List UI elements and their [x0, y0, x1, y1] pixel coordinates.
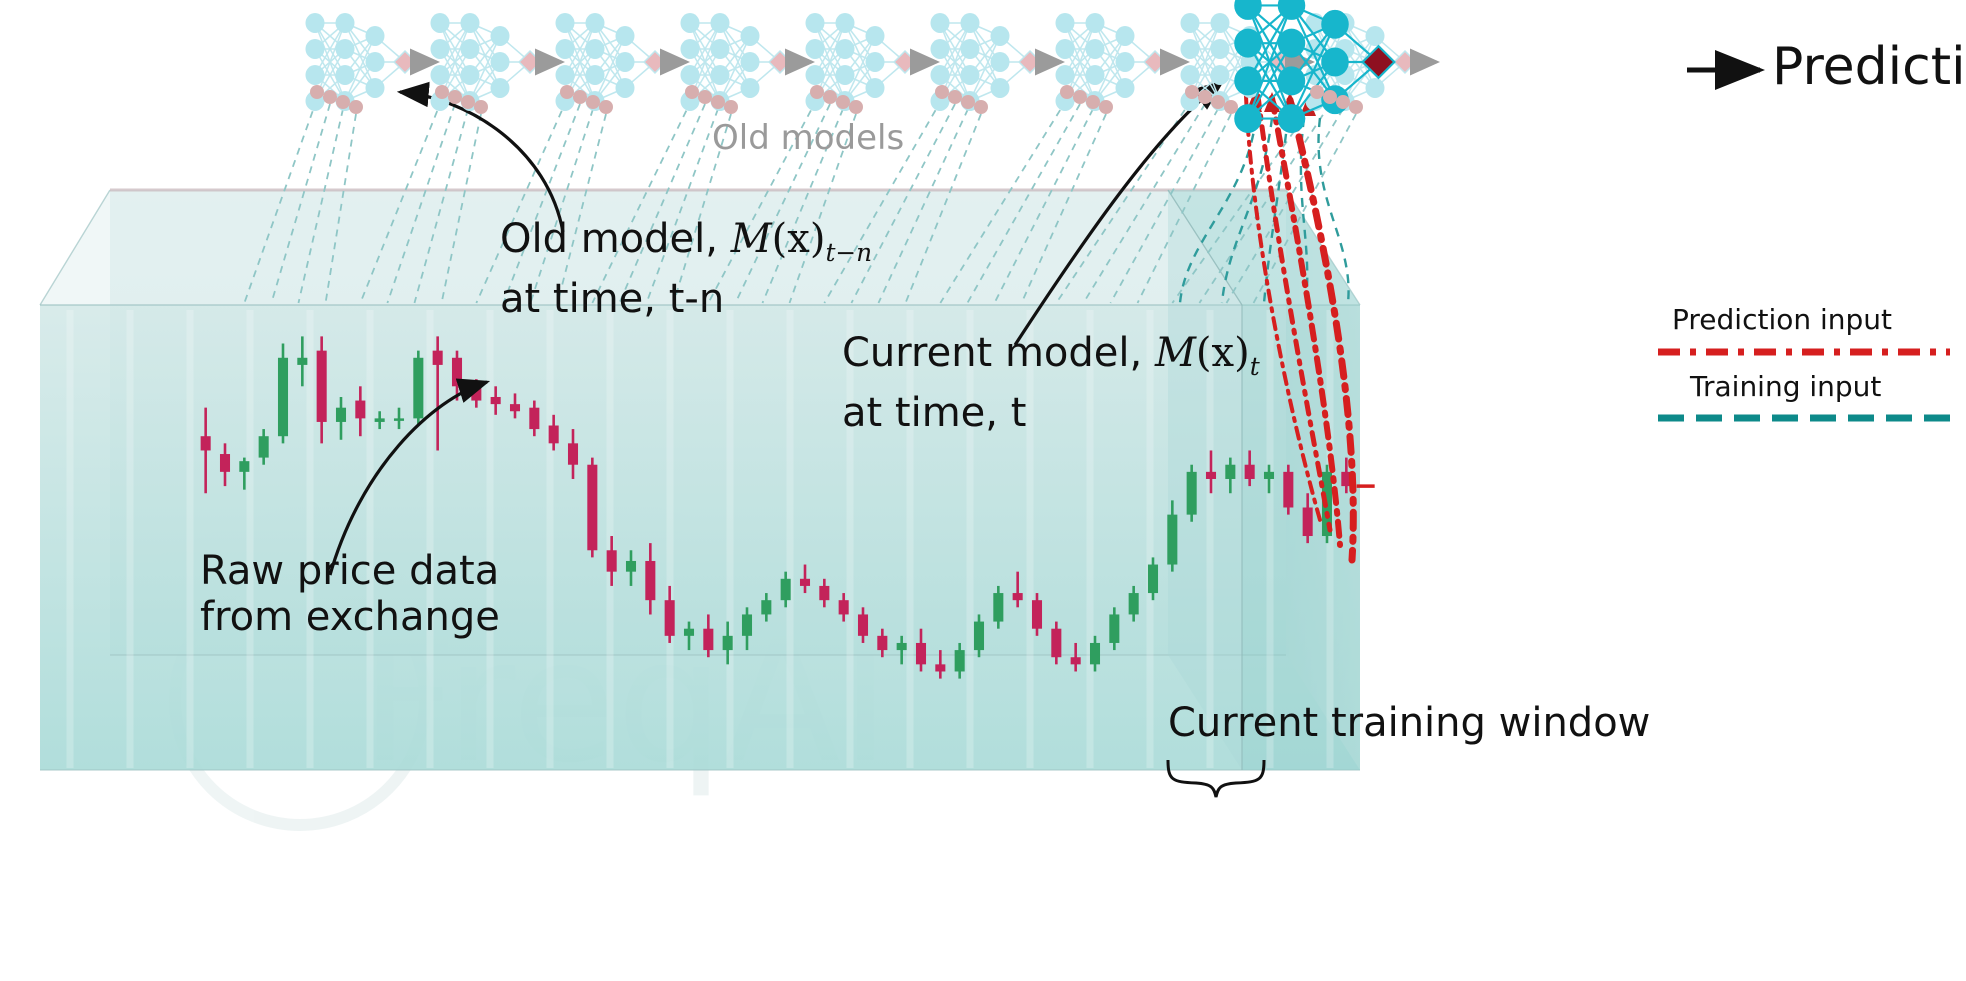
neuron-node	[306, 39, 325, 59]
candle-body	[1109, 614, 1119, 643]
old-model-input-node	[560, 85, 574, 99]
neuron-node	[336, 65, 355, 85]
candle-body	[935, 664, 945, 671]
neuron-node	[556, 65, 575, 85]
neuron-node	[961, 65, 980, 85]
candle-body	[684, 629, 694, 636]
neuron-node	[931, 13, 950, 33]
neuron-node	[336, 39, 355, 59]
candle-body	[355, 401, 365, 419]
old-model-input-node	[1185, 85, 1199, 99]
neuron-node	[1116, 52, 1135, 72]
old-model-input-node	[724, 100, 738, 114]
candle-body	[1013, 593, 1023, 600]
candle-body	[587, 465, 597, 551]
candle-body	[800, 579, 810, 586]
neuron-node	[806, 13, 825, 33]
old-model-input-node	[948, 90, 962, 104]
old-model-input-node	[599, 100, 613, 114]
candle-body	[1264, 472, 1274, 479]
neuron-node	[1056, 13, 1075, 33]
neuron-node	[836, 39, 855, 59]
old-model-input-node	[1086, 95, 1100, 109]
neuron-node	[461, 39, 480, 59]
old-model-input-node	[1224, 100, 1238, 114]
neuron-node	[1181, 65, 1200, 85]
neuron-node	[616, 78, 635, 98]
neuron-node	[1366, 26, 1385, 46]
old-model-input-node	[573, 90, 587, 104]
candle-body	[491, 397, 501, 404]
candle-body	[1167, 515, 1177, 565]
neuron-node	[1056, 65, 1075, 85]
neuron-node	[586, 13, 605, 33]
neuron-node	[991, 26, 1010, 46]
legend-label-prediction-input: Prediction input	[1672, 303, 1892, 336]
old-model-math-M: M	[731, 216, 772, 262]
candle-body	[723, 636, 733, 650]
candle-body	[665, 600, 675, 636]
candle-body	[703, 629, 713, 650]
neuron-node	[681, 65, 700, 85]
candle-body	[955, 650, 965, 671]
neuron-node	[741, 26, 760, 46]
neuron-node	[1056, 39, 1075, 59]
old-model-input-node	[1349, 100, 1363, 114]
neuron-node	[1234, 66, 1262, 95]
old-model-input-node	[836, 95, 850, 109]
candle-body	[1032, 600, 1042, 629]
raw-price-line-1: Raw price data	[200, 548, 500, 594]
candle-body	[201, 436, 211, 450]
candle-body	[819, 586, 829, 600]
current-model-text-pre: Current model,	[842, 330, 1155, 376]
candle-body	[1303, 508, 1313, 537]
diagram-canvas: FreqAI	[0, 0, 1966, 981]
neuron-node	[931, 39, 950, 59]
old-model-input-node	[474, 100, 488, 114]
neuron-node	[431, 65, 450, 85]
neuron-node	[741, 52, 760, 72]
current-model-math-arg: (x)	[1196, 330, 1250, 376]
neuron-node	[1116, 78, 1135, 98]
neuron-node	[681, 39, 700, 59]
neuron-node	[741, 78, 760, 98]
candle-body	[1245, 465, 1255, 479]
neuron-node	[961, 39, 980, 59]
candle-body	[1283, 472, 1293, 508]
neuron-node	[556, 13, 575, 33]
candle-body	[394, 418, 404, 421]
candle-body	[1090, 643, 1100, 664]
candle-body	[529, 408, 539, 429]
old-model-input-node	[336, 95, 350, 109]
prediction-label: Prediction	[1772, 44, 1966, 90]
neuron-node	[711, 13, 730, 33]
old-model-input-node	[1336, 95, 1350, 109]
neuron-node	[836, 13, 855, 33]
old-model-math-subscript: t−n	[825, 238, 872, 267]
old-model-input-node	[323, 90, 337, 104]
old-model-input-node	[849, 100, 863, 114]
candle-body	[278, 358, 288, 436]
old-model-input-node	[685, 85, 699, 99]
current-model-time-line: at time, t	[842, 390, 1260, 436]
old-model-input-node	[435, 85, 449, 99]
neuron-node	[1366, 78, 1385, 98]
neuron-node	[1321, 48, 1349, 77]
candle-body	[549, 426, 559, 444]
neuron-node	[1116, 26, 1135, 46]
old-model-input-node	[823, 90, 837, 104]
neural-networks	[306, 0, 1438, 133]
neuron-node	[1181, 13, 1200, 33]
neuron-node	[491, 26, 510, 46]
neuron-node	[461, 13, 480, 33]
neuron-node	[806, 39, 825, 59]
old-model-input-node	[349, 100, 363, 114]
candle-body	[297, 358, 307, 365]
candle-body	[607, 550, 617, 571]
candle-body	[916, 643, 926, 664]
old-model-input-node	[1211, 95, 1225, 109]
neuron-node	[931, 65, 950, 85]
neuron-node	[1278, 29, 1306, 58]
neuron-node	[1234, 29, 1262, 58]
neuron-node	[306, 13, 325, 33]
candle-body	[897, 643, 907, 650]
neuron-node	[1181, 39, 1200, 59]
candle-body	[510, 404, 520, 411]
old-model-input-node	[1073, 90, 1087, 104]
neuron-node	[1278, 104, 1306, 133]
neuron-node	[491, 52, 510, 72]
old-model-math-arg: (x)	[772, 216, 826, 262]
old-model-input-node	[711, 95, 725, 109]
candle-body	[1206, 472, 1216, 479]
legend-label-training-input: Training input	[1690, 370, 1881, 403]
old-model-input-node	[586, 95, 600, 109]
candle-body	[375, 418, 385, 422]
candle-body	[761, 600, 771, 614]
neuron-node	[866, 52, 885, 72]
raw-price-annotation: Raw price data from exchange	[200, 548, 500, 640]
neuron-node	[366, 52, 385, 72]
neuron-node	[431, 39, 450, 59]
candle-body	[645, 561, 655, 600]
neuron-node	[711, 65, 730, 85]
neuron-node	[1234, 104, 1262, 133]
neuron-node	[1211, 65, 1230, 85]
neuron-node	[1086, 65, 1105, 85]
candle-body	[1071, 657, 1081, 664]
current-model-math-M: M	[1155, 330, 1196, 376]
candle-body	[317, 351, 327, 422]
candle-body	[839, 600, 849, 614]
candle-body	[336, 408, 346, 422]
candle-body	[433, 351, 443, 365]
neuron-node	[556, 39, 575, 59]
candle-body	[239, 461, 249, 472]
old-model-annotation: Old model, M(x)t−n at time, t-n	[500, 216, 872, 322]
old-model-input-node	[1060, 85, 1074, 99]
candle-body	[1187, 472, 1197, 515]
candle-body	[1148, 565, 1158, 594]
old-model-input-node	[935, 85, 949, 99]
neuron-node	[681, 13, 700, 33]
neuron-node	[1321, 10, 1349, 39]
diagram-svg: FreqAI	[0, 0, 1966, 981]
raw-price-line-2: from exchange	[200, 594, 500, 640]
old-model-input-node	[1198, 90, 1212, 104]
neuron-node	[431, 13, 450, 33]
neuron-node	[366, 78, 385, 98]
old-model-text-pre: Old model,	[500, 216, 731, 262]
neuron-node	[461, 65, 480, 85]
neuron-node	[836, 65, 855, 85]
neuron-node	[491, 78, 510, 98]
candle-body	[413, 358, 423, 419]
old-model-input-node	[961, 95, 975, 109]
neuron-node	[1211, 13, 1230, 33]
old-model-input-node	[974, 100, 988, 114]
candle-body	[974, 622, 984, 651]
old-model-time-line: at time, t-n	[500, 276, 872, 322]
candle-body	[993, 593, 1003, 622]
old-model-input-node	[698, 90, 712, 104]
neuron-node	[1278, 66, 1306, 95]
neuron-node	[1211, 39, 1230, 59]
neuron-node	[806, 65, 825, 85]
candle-body	[781, 579, 791, 600]
current-training-window-label: Current training window	[1168, 700, 1650, 746]
neuron-node	[711, 39, 730, 59]
neuron-node	[991, 78, 1010, 98]
old-model-input-node	[461, 95, 475, 109]
candle-body	[1225, 465, 1235, 479]
candle-body	[877, 636, 887, 650]
old-model-input-node	[810, 85, 824, 99]
old-model-input-node	[1099, 100, 1113, 114]
neuron-node	[366, 26, 385, 46]
old-model-input-node	[448, 90, 462, 104]
candle-body	[1129, 593, 1139, 614]
neuron-node	[1234, 0, 1262, 20]
candle-body	[1051, 629, 1061, 658]
neuron-node	[866, 26, 885, 46]
old-model-input-node	[310, 85, 324, 99]
neuron-node	[306, 65, 325, 85]
old-models-label: Old models	[712, 118, 904, 158]
old-model-input-node	[1323, 90, 1337, 104]
candle-body	[220, 454, 230, 472]
neuron-node	[1086, 39, 1105, 59]
neuron-node	[1086, 13, 1105, 33]
candle-body	[626, 561, 636, 572]
old-model-input-node	[1310, 85, 1324, 99]
neuron-node	[586, 65, 605, 85]
neuron-node	[586, 39, 605, 59]
candle-body	[568, 443, 578, 464]
candle-body	[858, 614, 868, 635]
neuron-node	[336, 13, 355, 33]
candle-body	[259, 436, 269, 457]
neuron-node	[616, 52, 635, 72]
candle-body	[452, 358, 462, 387]
neuron-node	[991, 52, 1010, 72]
neuron-node	[616, 26, 635, 46]
neuron-node	[866, 78, 885, 98]
current-model-annotation: Current model, M(x)t at time, t	[842, 330, 1260, 436]
current-model-math-subscript: t	[1250, 352, 1260, 381]
neuron-node	[961, 13, 980, 33]
candle-body	[742, 614, 752, 635]
